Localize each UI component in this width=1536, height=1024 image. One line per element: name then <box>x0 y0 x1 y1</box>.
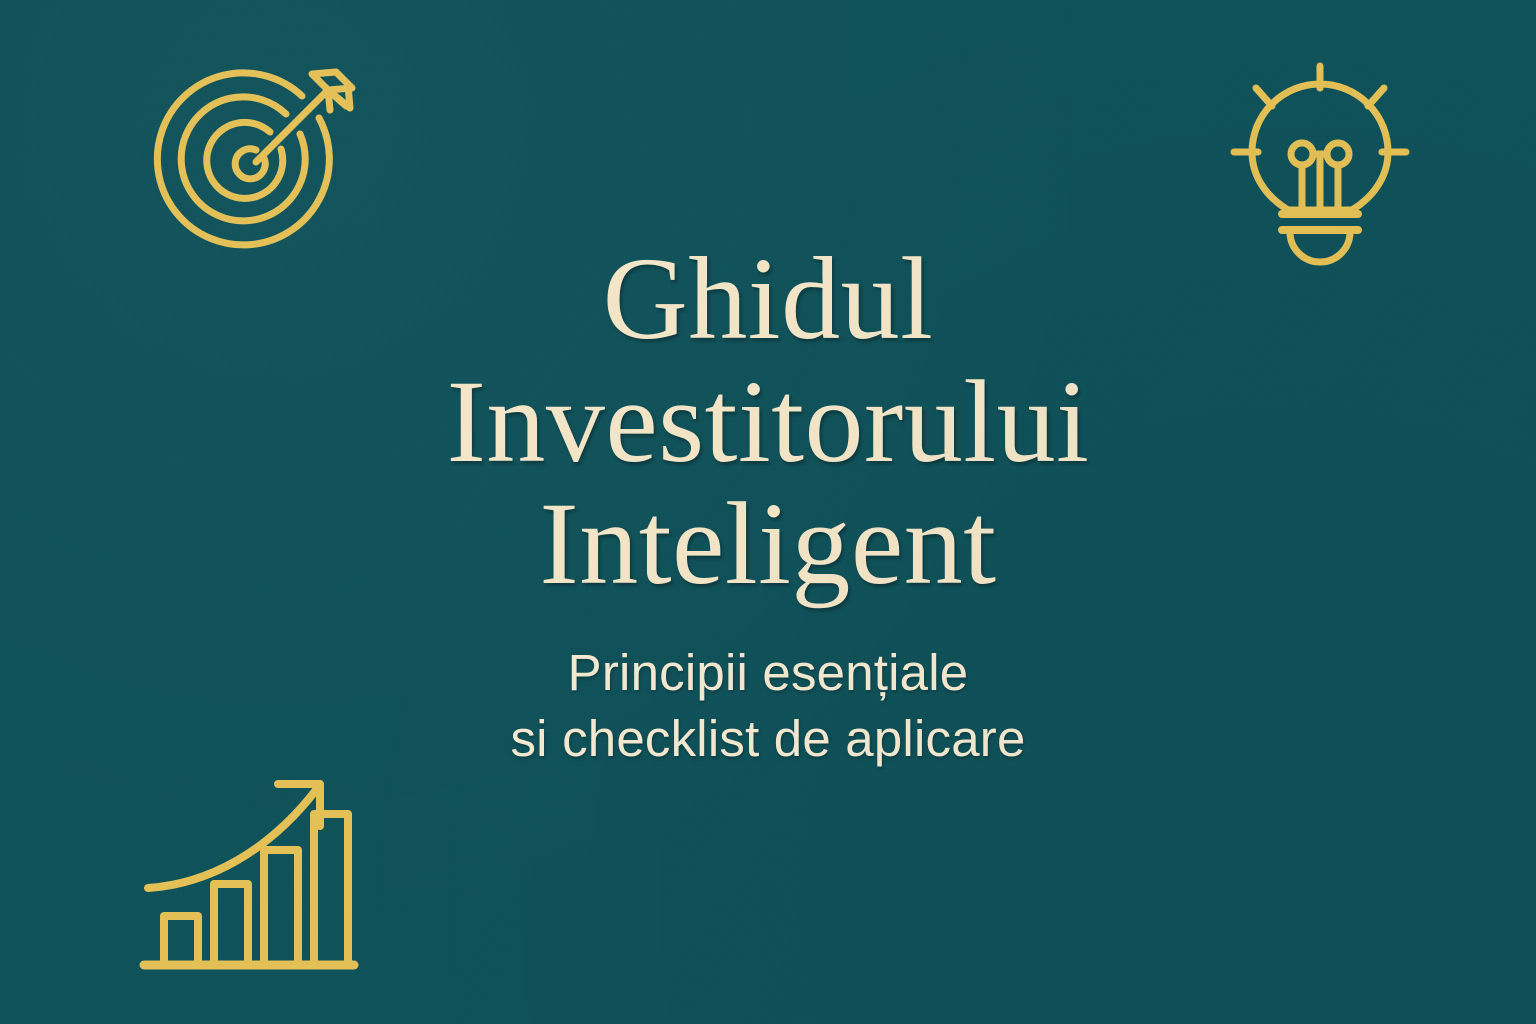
page-title: Ghidul Investitorului Inteligent <box>120 238 1416 606</box>
title-line-1: Ghidul <box>120 238 1416 361</box>
subtitle-line-1: Principii esențiale <box>120 640 1416 706</box>
title-line-3: Inteligent <box>120 483 1416 606</box>
page-subtitle: Principii esențiale si checklist de apli… <box>120 640 1416 773</box>
title-line-2: Investitorului <box>120 361 1416 484</box>
subtitle-line-2: si checklist de aplicare <box>120 706 1416 772</box>
poster-text-block: Ghidul Investitorului Inteligent Princip… <box>0 238 1536 773</box>
growth-chart-icon <box>138 762 358 978</box>
poster-canvas: Ghidul Investitorului Inteligent Princip… <box>0 0 1536 1024</box>
target-arrow-icon <box>152 58 360 266</box>
